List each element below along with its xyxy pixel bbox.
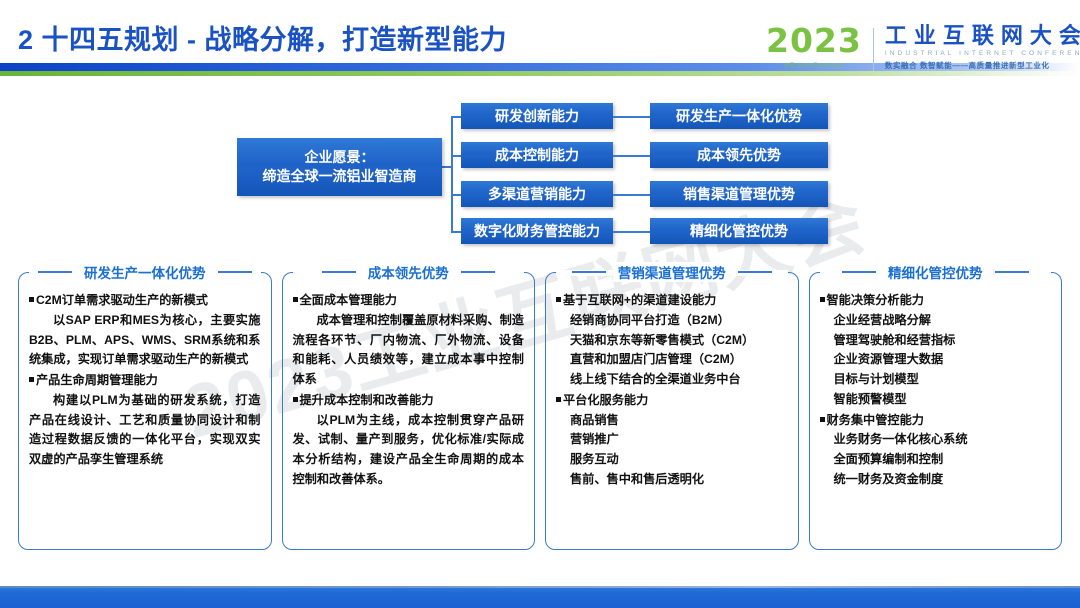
capability-item: 营销推广 [556, 430, 788, 450]
capability-item: 经销商协同平台打造（B2M） [556, 311, 788, 331]
capability-heading-label: 产品生命周期管理能力 [36, 373, 158, 387]
advantage-panel: 营销渠道管理优势基于互联网+的渠道建设能力经销商协同平台打造（B2M）天猫和京东… [545, 272, 799, 550]
bullet-square-icon [820, 297, 825, 302]
capability-block: 产品生命周期管理能力构建以PLM为基础的研发系统，打造产品在线设计、工艺和质量协… [29, 371, 261, 470]
node-advantage-2: 销售渠道管理优势 [650, 181, 828, 207]
page-title: 2 十四五规划 - 战略分解，打造新型能力 [18, 18, 507, 57]
logo-date-text: 中国·苏州 6月14日-16日 [766, 62, 862, 69]
connector-link-0 [613, 116, 650, 118]
capability-item: 智能预警模型 [820, 390, 1052, 410]
connector-branch-2 [451, 194, 461, 196]
node-capability-2: 多渠道营销能力 [461, 181, 613, 207]
panel-body: 基于互联网+的渠道建设能力经销商协同平台打造（B2M）天猫和京东等新零售模式（C… [556, 291, 788, 490]
capability-block: 财务集中管控能力业务财务一体化核心系统全面预算编制和控制统一财务及资金制度 [820, 411, 1052, 490]
connector-branch-0 [451, 116, 461, 118]
connector-link-2 [613, 194, 650, 196]
capability-block: 智能决策分析能力企业经营战略分解管理驾驶舱和经营指标企业资源管理大数据目标与计划… [820, 291, 1052, 410]
logo-name-cn: 工业互联网大会 [885, 24, 1080, 47]
panel-body: 智能决策分析能力企业经营战略分解管理驾驶舱和经营指标企业资源管理大数据目标与计划… [820, 291, 1052, 490]
node-advantage-3: 精细化管控优势 [650, 218, 828, 244]
bullet-square-icon [29, 377, 34, 382]
advantage-panel: 成本领先优势全面成本管理能力成本管理和控制覆盖原材料采购、制造流程各环节、厂内物… [282, 272, 536, 550]
capability-item: 服务互动 [556, 450, 788, 470]
logo-year-text: 2023 [766, 24, 862, 57]
panel-title: 成本领先优势 [363, 262, 454, 282]
capability-item: 统一财务及资金制度 [820, 470, 1052, 490]
capability-heading-label: 全面成本管理能力 [300, 293, 398, 307]
panel-rule-left [322, 271, 356, 273]
panel-rule-left [842, 271, 876, 273]
panel-rule-left [38, 271, 72, 273]
capability-block: C2M订单需求驱动生产的新模式以SAP ERP和MES为核心，主要实施B2B、P… [29, 291, 261, 370]
capability-item: 目标与计划模型 [820, 370, 1052, 390]
capability-heading-label: 财务集中管控能力 [827, 413, 925, 427]
panel-header: 研发生产一体化优势 [19, 262, 271, 282]
capability-item: 线上线下结合的全渠道业务中台 [556, 370, 788, 390]
capability-heading: 产品生命周期管理能力 [29, 371, 261, 391]
panel-rule-left [572, 271, 606, 273]
capability-heading: 基于互联网+的渠道建设能力 [556, 291, 788, 311]
panel-rule-right [461, 271, 495, 273]
capability-heading-label: 基于互联网+的渠道建设能力 [563, 293, 716, 307]
node-capability-0: 研发创新能力 [461, 103, 613, 129]
logo-slogan: 数实融合 数智赋能——高质量推进新型工业化 [885, 60, 1080, 71]
capability-heading-label: C2M订单需求驱动生产的新模式 [36, 293, 208, 307]
logo-text-block: 工业互联网大会 INDUSTRIAL INTERNET CONFERENCE 数… [874, 24, 1080, 71]
slide-canvas: 2 十四五规划 - 战略分解，打造新型能力 2023 中国·苏州 6月14日-1… [0, 0, 1080, 608]
capability-heading: 平台化服务能力 [556, 391, 788, 411]
panel-rule-right [995, 271, 1029, 273]
connector-trunk [451, 116, 453, 231]
capability-heading: 智能决策分析能力 [820, 291, 1052, 311]
header-rule-green [0, 71, 1080, 76]
capability-heading-label: 提升成本控制和改善能力 [300, 393, 434, 407]
capability-heading-label: 平台化服务能力 [563, 393, 648, 407]
capability-paragraph: 以SAP ERP和MES为核心，主要实施B2B、PLM、APS、WMS、SRM系… [29, 311, 261, 370]
bullet-square-icon [293, 297, 298, 302]
capability-item: 企业资源管理大数据 [820, 350, 1052, 370]
capability-block: 提升成本控制和改善能力以PLM为主线，成本控制贯穿产品研发、试制、量产到服务，优… [293, 391, 525, 490]
capability-item: 管理驾驶舱和经营指标 [820, 331, 1052, 351]
bottom-band [0, 586, 1080, 608]
node-advantage-0: 研发生产一体化优势 [650, 103, 828, 129]
panel-header: 精细化管控优势 [810, 262, 1062, 282]
capability-block: 全面成本管理能力成本管理和控制覆盖原材料采购、制造流程各环节、厂内物流、厂外物流… [293, 291, 525, 390]
logo-name-en: INDUSTRIAL INTERNET CONFERENCE [885, 50, 1080, 57]
panel-body: 全面成本管理能力成本管理和控制覆盖原材料采购、制造流程各环节、厂内物流、厂外物流… [293, 291, 525, 490]
connector-link-3 [613, 231, 650, 233]
node-capability-1: 成本控制能力 [461, 142, 613, 168]
vision-line-1: 企业愿景： [305, 148, 375, 167]
capability-paragraph: 构建以PLM为基础的研发系统，打造产品在线设计、工艺和质量协同设计和制造过程数据… [29, 391, 261, 470]
capability-heading: 提升成本控制和改善能力 [293, 391, 525, 411]
vision-line-2: 缔造全球一流铝业智造商 [263, 167, 417, 186]
capability-heading: C2M订单需求驱动生产的新模式 [29, 291, 261, 311]
node-enterprise-vision: 企业愿景： 缔造全球一流铝业智造商 [237, 138, 442, 196]
capability-block: 基于互联网+的渠道建设能力经销商协同平台打造（B2M）天猫和京东等新零售模式（C… [556, 291, 788, 390]
bullet-square-icon [29, 297, 34, 302]
panel-rule-right [218, 271, 252, 273]
node-advantage-1: 成本领先优势 [650, 142, 828, 168]
connector-branch-1 [451, 155, 461, 157]
connector-link-1 [613, 155, 650, 157]
panel-header: 成本领先优势 [283, 262, 535, 282]
panel-rule-right [738, 271, 772, 273]
capability-item: 全面预算编制和控制 [820, 450, 1052, 470]
capability-paragraph: 成本管理和控制覆盖原材料采购、制造流程各环节、厂内物流、厂外物流、设备和能耗、人… [293, 311, 525, 390]
capability-item: 企业经营战略分解 [820, 311, 1052, 331]
node-capability-3: 数字化财务管控能力 [461, 218, 613, 244]
strategy-diagram: 企业愿景： 缔造全球一流铝业智造商 研发创新能力 成本控制能力 多渠道营销能力 … [0, 96, 1080, 251]
advantage-panels: 研发生产一体化优势C2M订单需求驱动生产的新模式以SAP ERP和MES为核心，… [18, 272, 1062, 550]
logo-year-block: 2023 中国·苏州 6月14日-16日 [766, 24, 873, 69]
bullet-square-icon [556, 397, 561, 402]
panel-title: 研发生产一体化优势 [79, 262, 211, 282]
capability-heading-label: 智能决策分析能力 [827, 293, 925, 307]
capability-item: 商品销售 [556, 411, 788, 431]
capability-heading: 全面成本管理能力 [293, 291, 525, 311]
bullet-square-icon [820, 417, 825, 422]
capability-item: 售前、售中和售后透明化 [556, 470, 788, 490]
conference-logo: 2023 中国·苏州 6月14日-16日 工业互联网大会 INDUSTRIAL … [766, 24, 1080, 71]
panel-body: C2M订单需求驱动生产的新模式以SAP ERP和MES为核心，主要实施B2B、P… [29, 291, 261, 470]
advantage-panel: 研发生产一体化优势C2M订单需求驱动生产的新模式以SAP ERP和MES为核心，… [18, 272, 272, 550]
capability-item: 天猫和京东等新零售模式（C2M） [556, 331, 788, 351]
advantage-panel: 精细化管控优势智能决策分析能力企业经营战略分解管理驾驶舱和经营指标企业资源管理大… [809, 272, 1063, 550]
panel-header: 营销渠道管理优势 [546, 262, 798, 282]
panel-title: 精细化管控优势 [883, 262, 988, 282]
capability-paragraph: 以PLM为主线，成本控制贯穿产品研发、试制、量产到服务，优化标准/实际成本分析结… [293, 411, 525, 490]
capability-item: 业务财务一体化核心系统 [820, 430, 1052, 450]
capability-block: 平台化服务能力商品销售营销推广服务互动售前、售中和售后透明化 [556, 391, 788, 490]
connector-branch-3 [451, 231, 461, 233]
capability-item: 直营和加盟店门店管理（C2M） [556, 350, 788, 370]
bullet-square-icon [556, 297, 561, 302]
bullet-square-icon [293, 397, 298, 402]
panel-title: 营销渠道管理优势 [613, 262, 731, 282]
capability-heading: 财务集中管控能力 [820, 411, 1052, 431]
